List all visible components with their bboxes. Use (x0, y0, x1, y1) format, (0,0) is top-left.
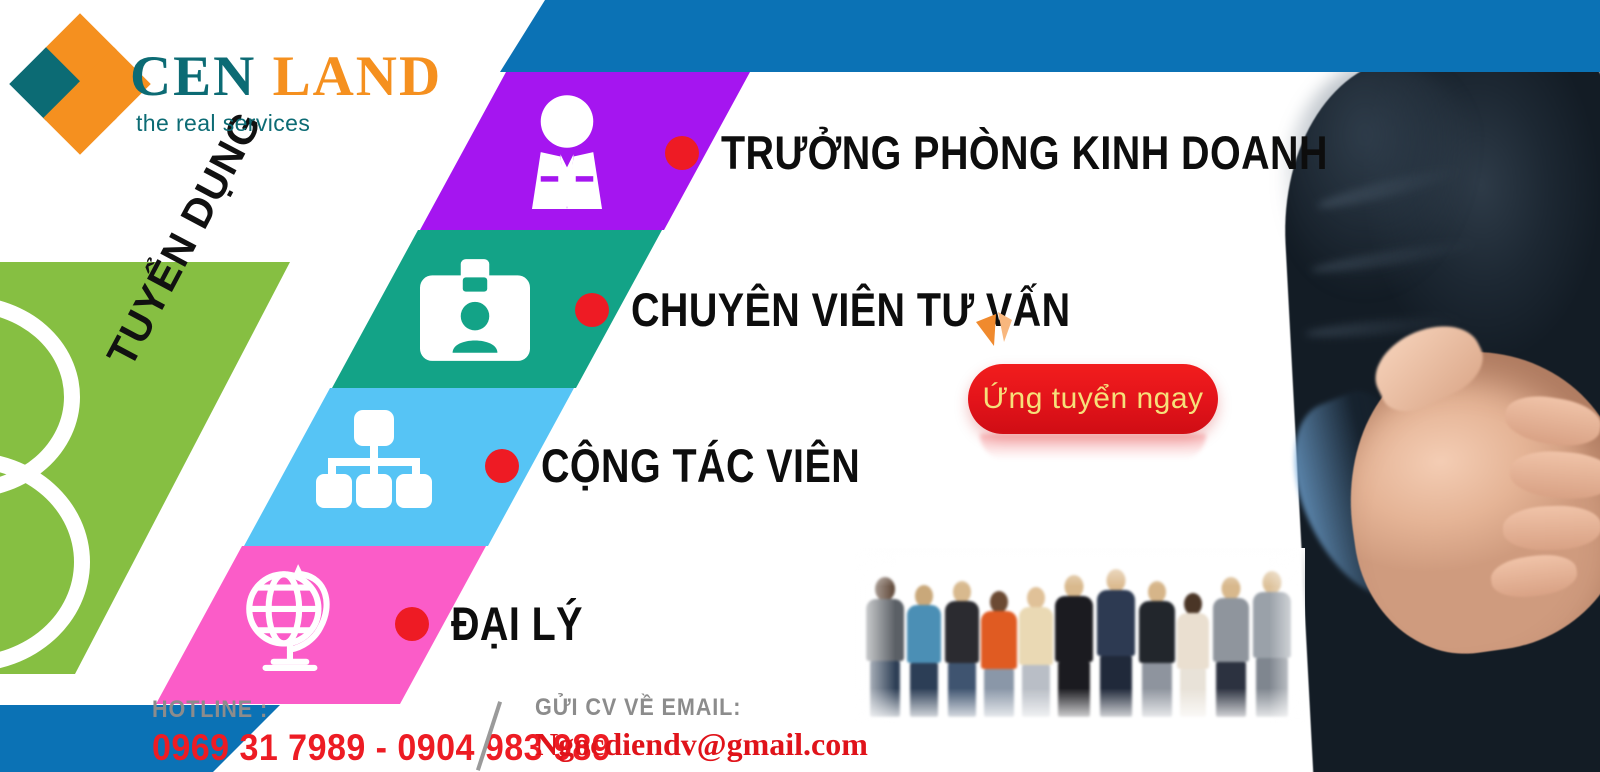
businessman-suit-icon (512, 93, 622, 209)
logo-land-text: LAND (273, 45, 443, 108)
job-row-3[interactable]: CỘNG TÁC VIÊN (485, 438, 921, 493)
job-title-1: TRƯỞNG PHÒNG KINH DOANH (721, 125, 1328, 180)
org-chart-icon (316, 410, 432, 510)
button-reflection (980, 434, 1206, 460)
bullet-dot-icon (485, 449, 519, 483)
job-title-3: CỘNG TÁC VIÊN (541, 438, 860, 493)
job-row-4[interactable]: ĐẠI LÝ (395, 596, 608, 651)
recruitment-banner: TUYỂN DỤNG TRƯỞNG PHÒNG KINH DOANH CHUYÊ… (0, 0, 1600, 772)
bullet-dot-icon (395, 607, 429, 641)
id-badge-icon (420, 258, 530, 362)
handshake-photo (1255, 0, 1600, 772)
logo-tagline: the real services (136, 110, 310, 137)
logo-wordmark: CEN LAND (130, 44, 442, 109)
job-row-1[interactable]: TRƯỞNG PHÒNG KINH DOANH (665, 125, 1443, 180)
top-blue-band-right (1255, 0, 1600, 72)
email-address[interactable]: Ngocdiendv@gmail.com (535, 726, 868, 763)
cursor-arrow-icon (974, 308, 1016, 364)
b-letter-lower-ring (0, 452, 90, 672)
bullet-dot-icon (665, 136, 699, 170)
photo-fade-overlay (855, 548, 1305, 723)
cta-group: Ứng tuyển ngay (968, 308, 1238, 458)
apply-now-button[interactable]: Ứng tuyển ngay (968, 364, 1218, 434)
email-block: GỬI CV VỀ EMAIL: Ngocdiendv@gmail.com (535, 694, 868, 763)
hotline-label: HOTLINE : (152, 696, 601, 724)
business-group-photo (855, 548, 1305, 723)
email-label: GỬI CV VỀ EMAIL: (535, 694, 835, 722)
logo-cen-text: CEN (130, 45, 256, 108)
bullet-dot-icon (575, 293, 609, 327)
desk-globe-icon (238, 556, 346, 674)
job-title-4: ĐẠI LÝ (451, 596, 583, 651)
cen-land-logo[interactable]: CEN LAND the real services (18, 18, 418, 133)
